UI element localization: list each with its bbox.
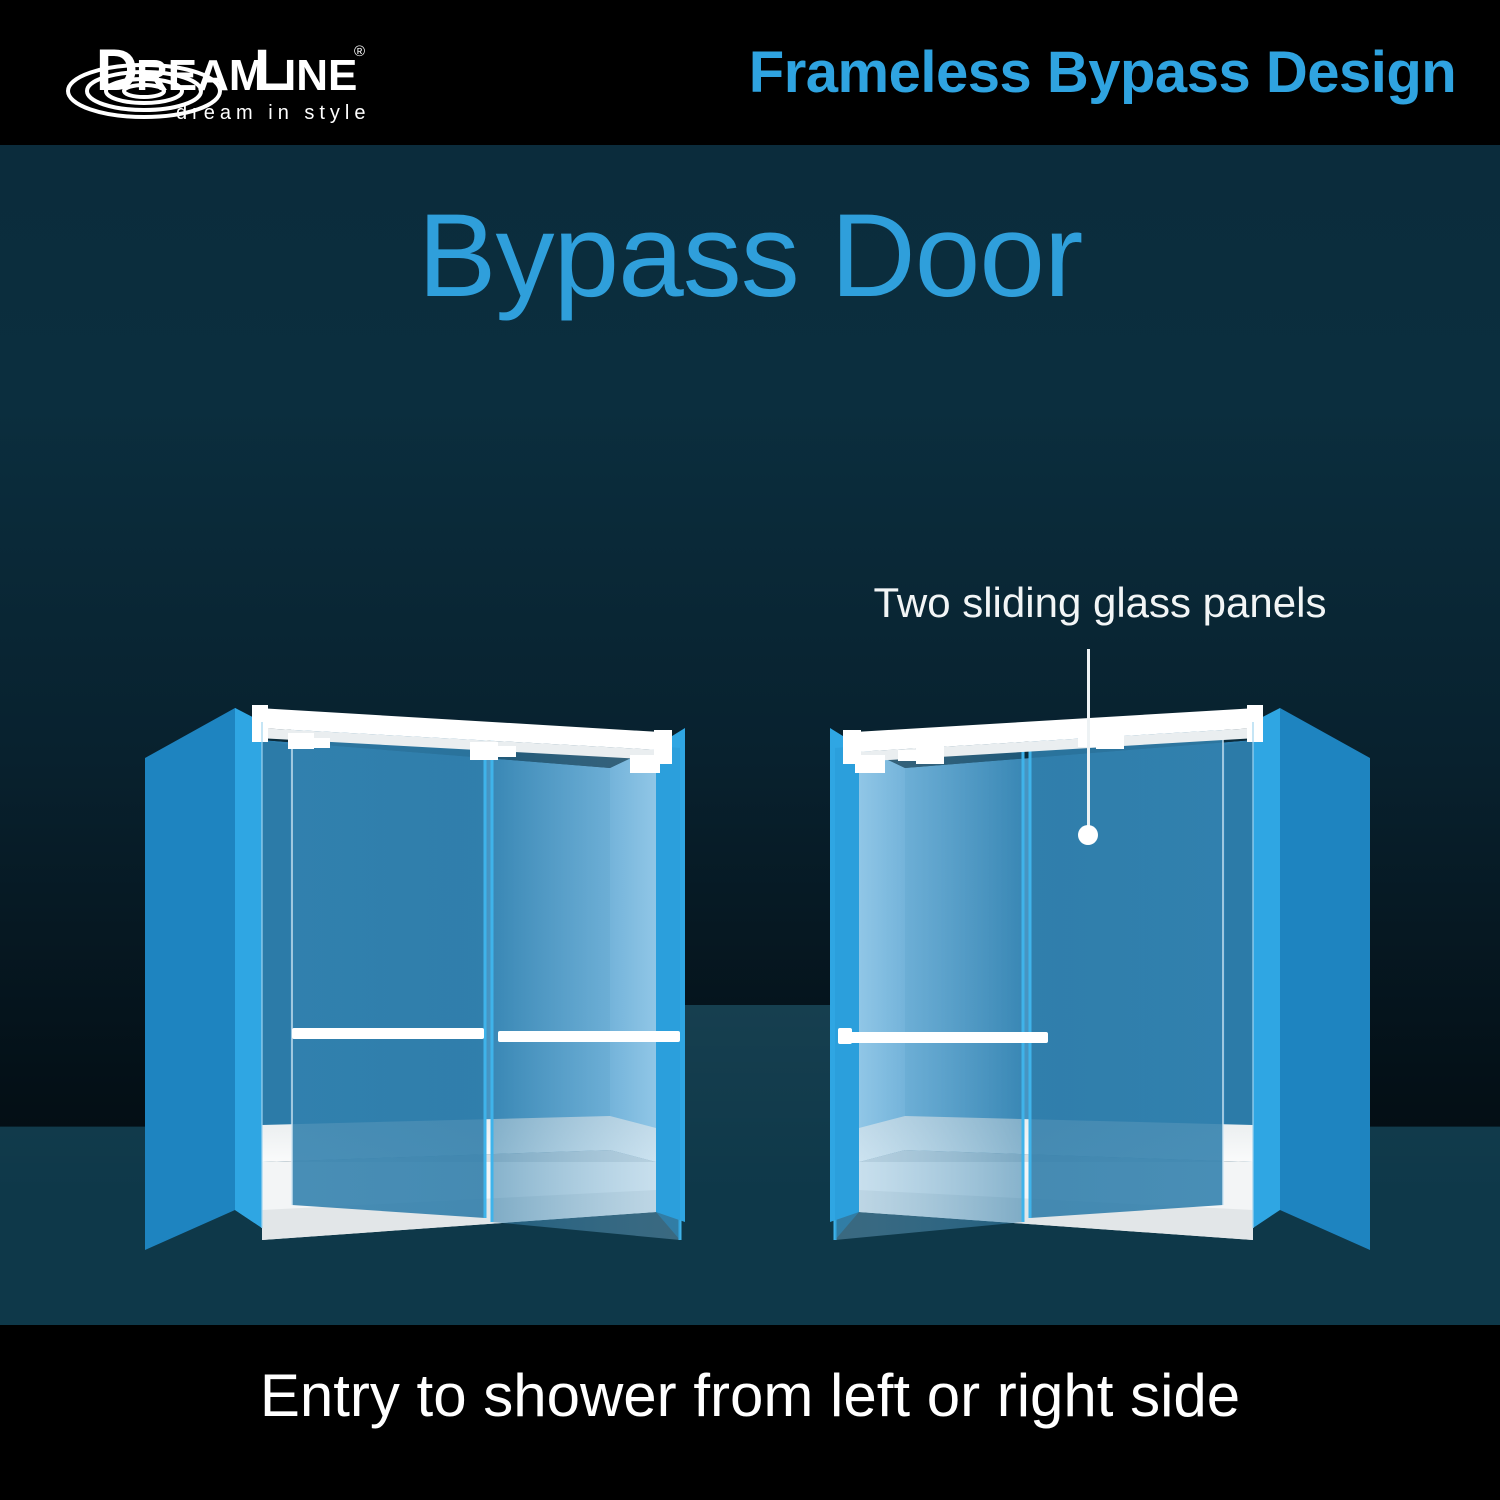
footer-band: Entry to shower from left or right side: [0, 1325, 1500, 1500]
callout-leader-line: [1087, 649, 1090, 831]
logo-registered-mark: ®: [354, 43, 365, 60]
left-enclosure[interactable]: [140, 550, 685, 1270]
dreamline-logo[interactable]: D REAM L INE ® dream in style: [58, 18, 478, 128]
header-band: D REAM L INE ® dream in style Frameless …: [0, 0, 1500, 145]
header-tagline: Frameless Bypass Design: [745, 36, 1460, 110]
callout-label: Two sliding glass panels: [790, 577, 1410, 629]
dreamline-bypass-door-infographic: Bypass Door: [0, 0, 1500, 1500]
page-title: Bypass Door: [0, 190, 1500, 322]
footer-caption: Entry to shower from left or right side: [0, 1359, 1500, 1433]
logo-slogan: dream in style: [176, 102, 371, 124]
logo-wordmark-ream: REAM: [136, 51, 266, 100]
logo-wordmark-d: D: [96, 38, 137, 103]
logo-wordmark-ine: INE: [284, 51, 357, 100]
right-enclosure[interactable]: [820, 550, 1375, 1270]
callout-anchor-dot: [1078, 825, 1098, 845]
product-scene: Bypass Door: [0, 145, 1500, 1325]
